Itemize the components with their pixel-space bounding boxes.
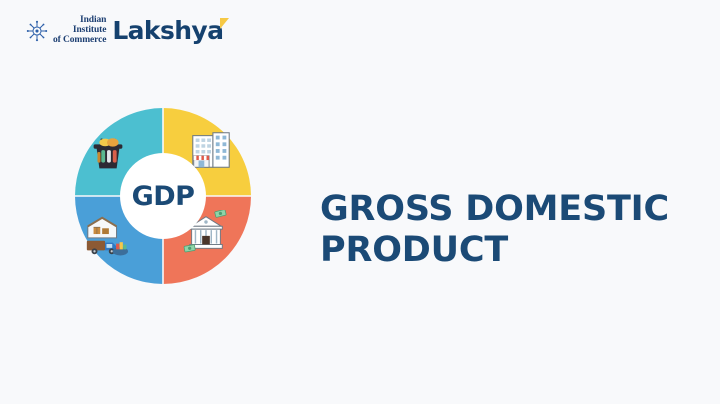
- office-building-icon: [188, 127, 234, 173]
- shopping-basket-icon: [85, 130, 131, 176]
- chakra-emblem-icon: [26, 20, 48, 42]
- brand-wordmark-wrap: Lakshya: [112, 18, 223, 44]
- donut-center-label: GDP: [132, 181, 195, 212]
- page-title-line2: PRODUCT: [320, 230, 669, 271]
- institute-name-line3: of Commerce: [53, 36, 106, 46]
- page-title: GROSS DOMESTIC PRODUCT: [320, 189, 669, 271]
- institute-name: Indian Institute of Commerce: [53, 16, 106, 45]
- donut-center-hole: GDP: [120, 153, 206, 239]
- warehouse-truck-icon: [83, 212, 129, 258]
- brand-logo: Indian Institute of Commerce Lakshya: [26, 13, 223, 49]
- gdp-donut-diagram: GDP: [75, 108, 251, 284]
- page-title-line1: GROSS DOMESTIC: [320, 189, 669, 230]
- brand-wordmark: Lakshya: [112, 16, 223, 45]
- flag-accent-icon: [220, 18, 229, 29]
